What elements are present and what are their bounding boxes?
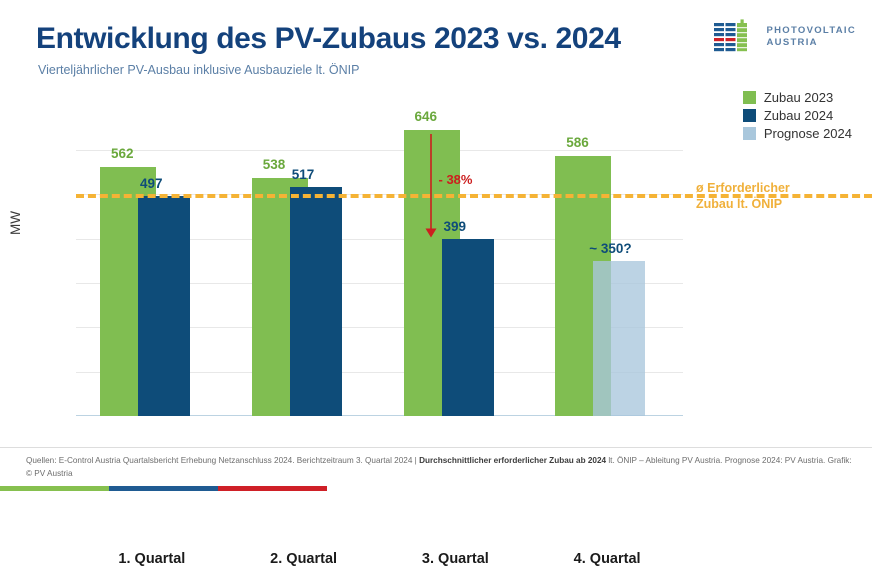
legend-label-zubau-2023: Zubau 2023 [764,90,833,105]
bar-value-label-prognose-2024: ~ 350? [589,241,631,256]
bar-value-label-zubau-2023: 586 [566,135,589,150]
x-axis-tick: 2. Quartal [228,551,380,567]
footer-bold: Durchschnittlicher erforderlicher Zubau … [419,456,606,465]
bar-zubau-2024[interactable] [138,196,190,416]
x-axis-tick: 1. Quartal [76,551,228,567]
bar-value-label-zubau-2024: 497 [140,176,163,191]
bar-zubau-2024[interactable] [290,187,342,416]
bar-value-label-zubau-2024: 399 [444,219,467,234]
chart-legend: Zubau 2023 Zubau 2024 Prognose 2024 [743,90,852,144]
x-axis-tick: 3. Quartal [380,551,532,567]
chart-page: Entwicklung des PV-Zubaus 2023 vs. 2024 … [0,0,872,491]
legend-swatch-prognose-2024 [743,127,756,140]
bar-value-label-zubau-2024: 517 [292,167,315,182]
reference-line-label: ø Erforderlicher Zubau lt. ÖNIP [696,180,790,212]
logo-line-2: AUSTRIA [767,37,857,49]
legend-item-prognose-2024[interactable]: Prognose 2024 [743,126,852,141]
legend-item-zubau-2023[interactable]: Zubau 2023 [743,90,852,105]
footer-divider [0,447,872,448]
grid-line [76,150,683,151]
page-subtitle: Vierteljährlicher PV-Ausbau inklusive Au… [38,63,359,77]
bar-zubau-2024[interactable] [442,239,494,416]
x-axis-tick: 4. Quartal [531,551,683,567]
legend-label-zubau-2024: Zubau 2024 [764,108,833,123]
bar-value-label-zubau-2023: 646 [415,109,438,124]
drop-percentage-label: - 38% [439,172,473,187]
footer-accent-bar [0,486,872,491]
footer-sources: Quellen: E-Control Austria Quartalsberic… [26,455,856,480]
legend-swatch-zubau-2024 [743,109,756,122]
reference-line-label-line1: ø Erforderlicher [696,180,790,196]
y-axis-title: MW [8,211,23,235]
drop-arrow-icon [421,134,441,241]
bar-value-label-zubau-2023: 538 [263,157,286,172]
photovoltaic-austria-logo: PHOTOVOLTAIC AUSTRIA [714,19,857,55]
footer-part-1: Quellen: E-Control Austria Quartalsberic… [26,456,419,465]
bar-prognose-2024[interactable] [593,261,645,416]
logo-line-1: PHOTOVOLTAIC [767,25,857,37]
legend-label-prognose-2024: Prognose 2024 [764,126,852,141]
bar-value-label-zubau-2023: 562 [111,146,134,161]
logo-wordmark: PHOTOVOLTAIC AUSTRIA [767,25,857,48]
logo-mark-icon [714,19,758,55]
plot-area: 01002003004005006005624971. Quartal53851… [76,128,683,416]
page-title: Entwicklung des PV-Zubaus 2023 vs. 2024 [36,22,621,56]
legend-item-zubau-2024[interactable]: Zubau 2024 [743,108,852,123]
reference-line-label-line2: Zubau lt. ÖNIP [696,196,790,212]
legend-swatch-zubau-2023 [743,91,756,104]
